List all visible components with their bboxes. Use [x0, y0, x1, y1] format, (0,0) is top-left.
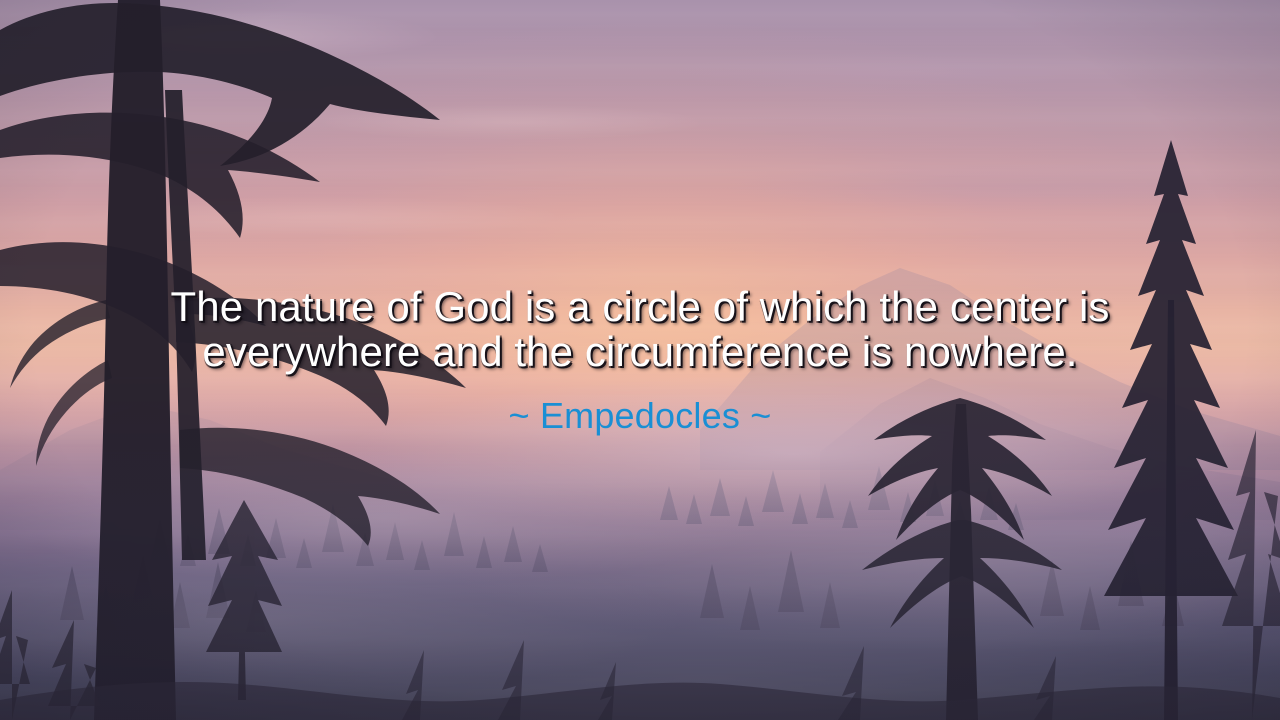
quote-text: The nature of God is a circle of which t…: [160, 284, 1120, 374]
quote-image-canvas: The nature of God is a circle of which t…: [0, 0, 1280, 720]
quote-attribution: ~ Empedocles ~: [509, 396, 772, 436]
quote-text-overlay: The nature of God is a circle of which t…: [0, 0, 1280, 720]
